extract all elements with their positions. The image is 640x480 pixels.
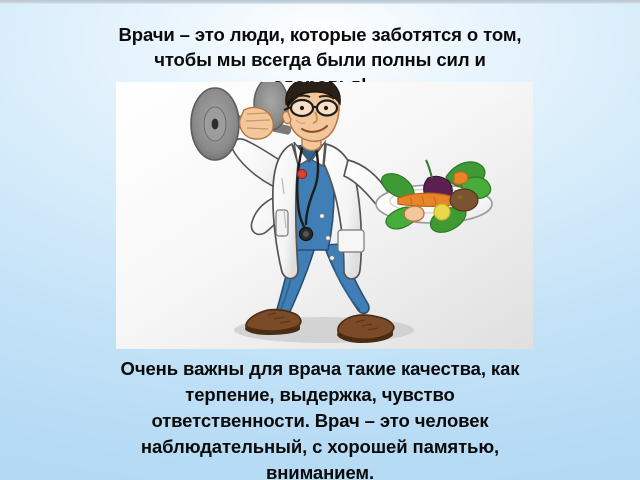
fist: [240, 107, 274, 139]
potato: [450, 189, 478, 211]
coat-button-middle: [326, 236, 331, 241]
coat-pocket-left: [276, 210, 288, 236]
dumbbell-disc-hole: [212, 119, 219, 130]
gripping-fist: [240, 107, 274, 139]
carrot-small: [454, 172, 468, 184]
potato-highlight: [457, 195, 463, 199]
top-edge-band: [0, 0, 640, 4]
eye-left: [300, 106, 304, 110]
coat-button-top: [320, 214, 325, 219]
red-pin-badge: [297, 169, 306, 178]
slide-canvas: Врачи – это люди, которые заботятся о то…: [0, 0, 640, 480]
slide-caption: Очень важны для врача такие качества, ка…: [36, 356, 604, 480]
yellow-vegetable: [434, 204, 450, 220]
tray-hand: [404, 206, 424, 221]
stethoscope-chestpiece-inner: [303, 231, 309, 237]
illustration-frame: [116, 82, 533, 349]
cartoon-doctor-illustration: [116, 82, 533, 349]
coat-button-bottom: [330, 256, 335, 261]
eye-right: [324, 106, 328, 110]
coat-pocket-right: [338, 230, 364, 252]
